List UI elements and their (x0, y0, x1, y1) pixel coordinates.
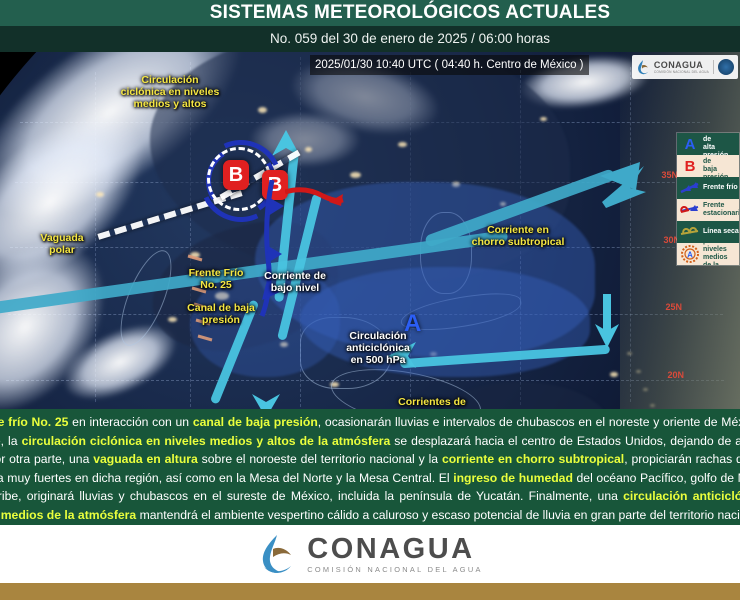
legend-glyph-b: B (685, 158, 696, 175)
coord-label-25n: 25N (665, 302, 682, 312)
logo-divider (713, 60, 714, 74)
weather-systems-infographic: SISTEMAS METEOROLÓGICOS ACTUALES No. 059… (0, 0, 740, 600)
footer-gold-bar (0, 583, 740, 600)
low-pressure-trough-icon (182, 250, 218, 350)
label-corriente-bajo-nivel: Corriente de bajo nivel (250, 270, 340, 294)
legend-item-dry-line[interactable]: Línea seca (677, 221, 739, 243)
jet-stream-arrowhead-icon (600, 162, 650, 208)
letter-a-icon: A (679, 134, 701, 154)
timestamp-label: 2025/01/30 10:40 UTC ( 04:40 h. Centro d… (310, 55, 589, 75)
label-circulacion-anticiclonica: Circulación anticiclónica en 500 hPa (326, 330, 430, 366)
legend-label-low-pressure: Sistemas de baja presión (701, 155, 739, 177)
forecast-paragraph: El frente frío No. 25 en interacción con… (0, 413, 740, 525)
header-logo-text: CONAGUA COMISIÓN NACIONAL DEL AGUA (654, 60, 709, 74)
legend-panel: A Sistemas de alta presión B Sistemas de… (676, 132, 740, 266)
label-corriente-chorro-subtropical: Corriente en chorro subtropical (458, 224, 578, 248)
legend-item-mid-level-high[interactable]: A Alta presión en niveles medios de la a… (677, 243, 739, 265)
low-level-current-pacific-arrowhead-icon (252, 392, 282, 409)
mid-level-high-icon: A (679, 244, 701, 264)
header-logo-group: CONAGUA COMISIÓN NACIONAL DEL AGUA (632, 55, 738, 79)
legend-glyph-a: A (685, 136, 696, 153)
legend-label-cold-front: Frente frío (701, 184, 738, 192)
page-title: SISTEMAS METEOROLÓGICOS ACTUALES (0, 0, 740, 26)
footer-text-group: CONAGUA COMISIÓN NACIONAL DEL AGUA (307, 534, 482, 574)
secondary-agency-logo-icon (718, 59, 734, 75)
legend-item-cold-front[interactable]: Frente frío (677, 177, 739, 199)
label-canal-baja-presion: Canal de baja presión (175, 302, 267, 326)
stationary-front-icon (679, 200, 701, 220)
city-light-1 (258, 107, 267, 113)
city-light-6 (96, 192, 104, 197)
cold-front-no25-icon (248, 180, 298, 320)
footer-logo-area: CONAGUA COMISIÓN NACIONAL DEL AGUA (0, 525, 740, 583)
city-light-3 (350, 172, 361, 178)
label-vaguada-polar: Vaguada polar (22, 232, 102, 256)
bulletin-number: No. 059 del 30 de enero de 2025 / 06:00 … (0, 26, 740, 52)
low-level-current-antilles-icon (594, 292, 620, 350)
legend-label-high-pressure: Sistemas de alta presión (701, 133, 739, 155)
label-frente-frio: Frente Frío No. 25 (178, 267, 254, 291)
label-corrientes-bajo-nivel: Corrientes de bajo nivel (386, 396, 478, 409)
svg-text:A: A (687, 251, 693, 260)
footer-logo-name: CONAGUA (307, 534, 482, 564)
satellite-map: 35N 30N 25N 20N (0, 52, 740, 409)
label-circulacion-ciclonica: Circulación ciclónica en niveles medios … (100, 74, 240, 110)
dry-line-icon (679, 222, 701, 242)
footer-logo-subtitle: COMISIÓN NACIONAL DEL AGUA (307, 565, 482, 574)
city-light-2 (305, 147, 312, 152)
legend-label-mid-level-high: Alta presión en niveles medios de la atm… (701, 243, 739, 265)
cold-front-icon (679, 178, 701, 198)
low-pressure-marker-cyclonic: B (223, 160, 249, 190)
conagua-footer-mark-icon (257, 532, 297, 576)
city-light-14 (610, 372, 618, 377)
legend-item-low-pressure[interactable]: B Sistemas de baja presión (677, 155, 739, 177)
city-light-13 (540, 117, 547, 121)
city-light-4 (398, 142, 407, 147)
legend-label-stationary-front: Frente estacionario (701, 202, 739, 218)
legend-item-stationary-front[interactable]: Frente estacionario (677, 199, 739, 221)
legend-label-dry-line: Línea seca (701, 228, 739, 236)
conagua-mark-icon (636, 59, 650, 75)
forecast-text-band: El frente frío No. 25 en interacción con… (0, 409, 740, 525)
legend-item-high-pressure[interactable]: A Sistemas de alta presión (677, 133, 739, 155)
header-logo-name: CONAGUA (654, 60, 709, 70)
letter-b-icon: B (679, 156, 701, 176)
coord-label-20n: 20N (667, 370, 684, 380)
header-logo-subtitle: COMISIÓN NACIONAL DEL AGUA (654, 70, 709, 74)
